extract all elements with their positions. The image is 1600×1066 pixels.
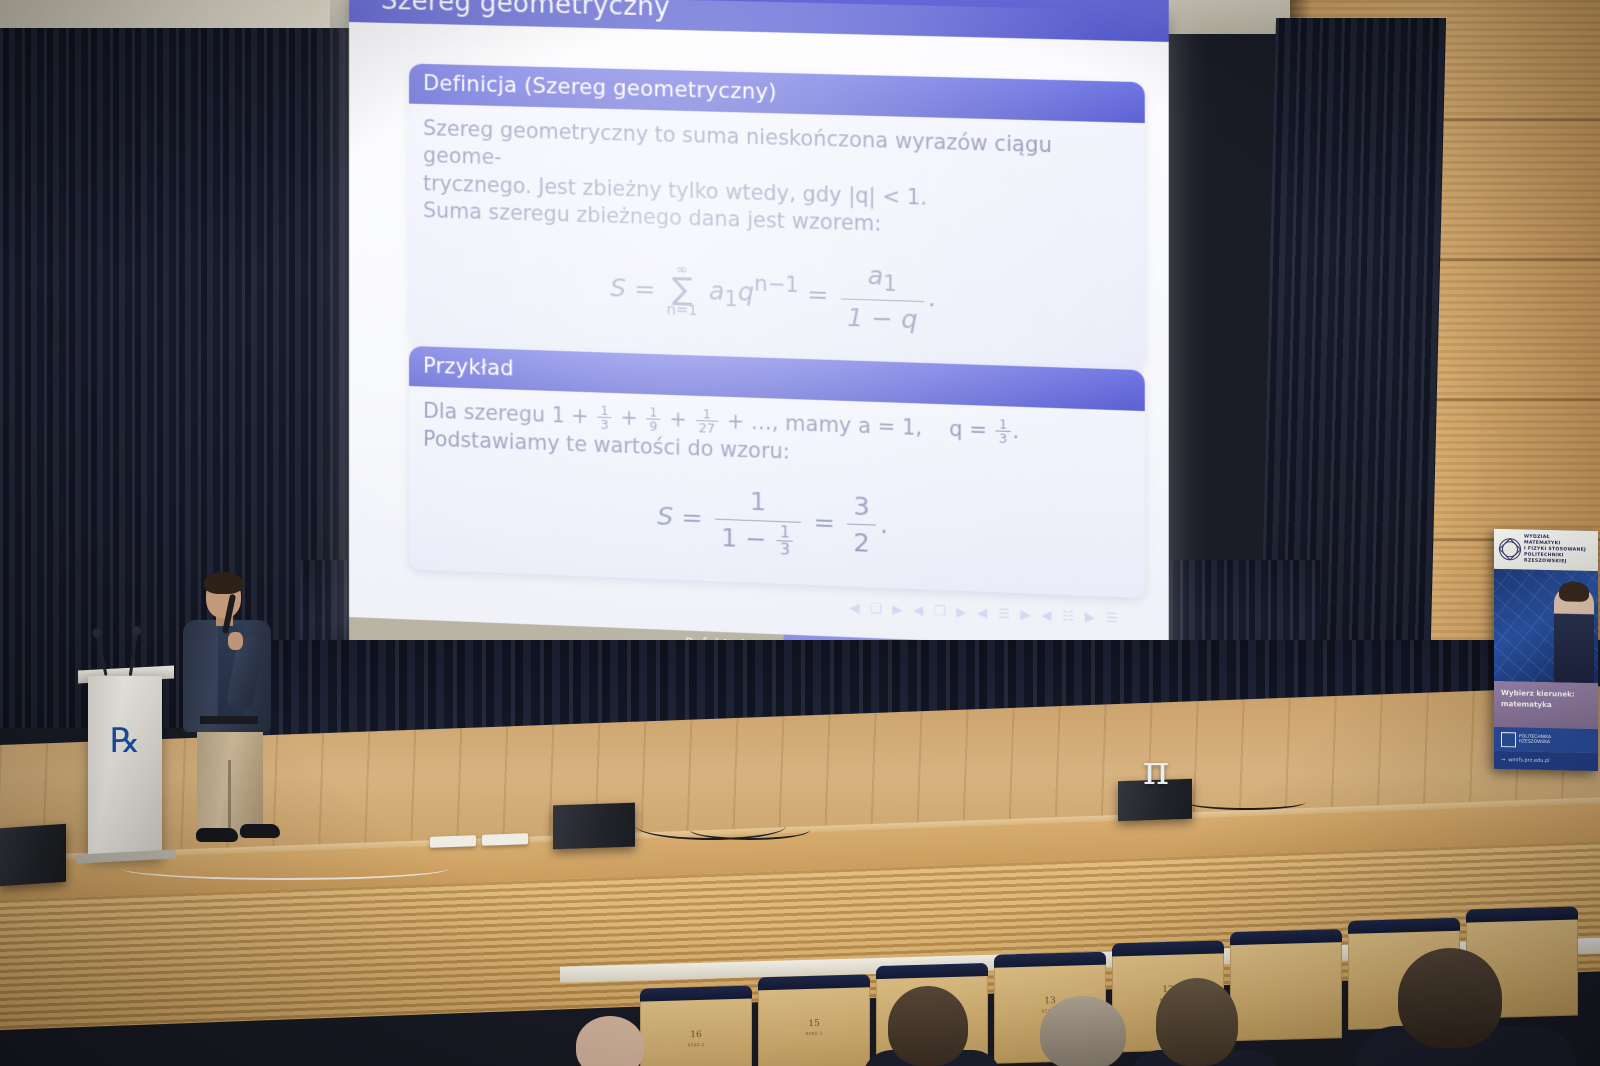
ex-f1-den: 3	[597, 418, 611, 432]
ex-frac-num: 1	[715, 483, 801, 522]
banner-faculty-header: WYDZIAŁ MATEMATYKI I FIZYKI STOSOWANEJ P…	[1494, 529, 1598, 571]
ex-formula-fraction: 1 1 − 1 3	[715, 483, 801, 558]
example-fraction-2: 1 9	[646, 405, 660, 433]
seat-backrest	[994, 952, 1106, 968]
formula-equals-1: =	[634, 273, 655, 303]
banner-university-logo: POLITECHNIKA RZESZOWSKA	[1494, 727, 1598, 753]
seat-row-label: RZĄD 2	[758, 1029, 870, 1037]
ex-f2-den: 9	[646, 420, 660, 434]
banner-student-figure	[1554, 586, 1594, 683]
list-item[interactable]: 15 RZĄD 2	[758, 983, 870, 1066]
power-strip-2	[482, 833, 528, 846]
definition-block: Definicja (Szereg geometryczny) Szereg g…	[409, 64, 1145, 371]
banner-headline: Wybierz kierunek: matematyka	[1494, 681, 1598, 729]
presenter-belt	[200, 716, 258, 724]
presenter-hand	[228, 632, 243, 650]
fraction-numerator: a1	[841, 258, 924, 302]
example-fraction-3: 1 27	[696, 407, 719, 435]
ex-formula-period: .	[880, 509, 888, 539]
example-block-body: Dla szeregu 1 + 1 3 + 1 9 + 1	[409, 386, 1145, 598]
seat-backrest	[1112, 940, 1224, 956]
example-fraction-1: 1 3	[597, 404, 611, 432]
formula-equals-2: =	[807, 279, 828, 309]
formula-fraction: a1 1 − q	[841, 258, 924, 337]
example-period-1: .	[1012, 419, 1019, 444]
formula-term-a-sub: 1	[724, 286, 738, 311]
fraction-num-a: a	[868, 261, 884, 291]
formula-period: .	[928, 282, 936, 312]
ex-formula-equals-2: =	[814, 507, 835, 537]
presenter-shoe-left	[196, 828, 238, 842]
ex-den-fraction: 1 3	[777, 524, 793, 558]
example-fraction-4: 1 3	[996, 417, 1011, 445]
seat-number: 15	[758, 1017, 870, 1030]
stage-cable-2	[690, 820, 810, 840]
definition-formula: S = ∞ ∑ n=1 a1qn−1 = a1 1 − q .	[423, 245, 1128, 343]
pi-sculpture: π	[1134, 755, 1178, 787]
presenter-leg-split	[228, 760, 231, 838]
ex-f3-den: 27	[696, 421, 719, 435]
faculty-line-4: POLITECHNIKI RZESZOWSKIEJ	[1524, 553, 1598, 567]
slide-title: Szereg geometryczny	[349, 0, 1169, 42]
projection-screen: Szereg geometryczny Definicja (Szereg ge…	[349, 0, 1169, 674]
ex-den-frac-den: 3	[777, 541, 793, 558]
arrow-icon: →	[1501, 757, 1505, 763]
ex-res-num: 3	[847, 489, 876, 526]
definition-block-body: Szereg geometryczny to suma nieskończona…	[409, 104, 1145, 371]
seat-backrest	[640, 986, 752, 1002]
audience-head	[888, 986, 968, 1066]
lecture-hall-photo: Szereg geometryczny Definicja (Szereg ge…	[0, 0, 1600, 1066]
beamer-slide: Szereg geometryczny Definicja (Szereg ge…	[349, 0, 1169, 674]
seat-number: 16	[640, 1029, 752, 1042]
ex-den-one: 1 −	[721, 522, 767, 553]
banner-headline-2: matematyka	[1501, 698, 1598, 711]
list-item[interactable]	[1230, 938, 1342, 1041]
seat-backrest	[1348, 918, 1460, 934]
beamer-navigation-icons[interactable]: ◀ ❑ ▶ ◀ ❐ ▶ ◀ ☰ ▶ ◀ ☷ ▶ ☰	[849, 601, 1121, 627]
example-line-1-c: q =	[949, 417, 987, 443]
presenter-hair	[204, 572, 243, 594]
university-name-2: RZESZOWSKA	[1519, 739, 1551, 745]
example-line-1-a: Dla szeregu 1 +	[423, 399, 589, 429]
formula-lhs: S	[610, 273, 626, 303]
audience-head	[1398, 948, 1502, 1048]
fraction-denominator: 1 − q	[841, 299, 924, 337]
example-formula: S = 1 1 − 1 3 =	[423, 473, 1128, 571]
audience-head	[1156, 978, 1238, 1066]
podium-logo: ℞	[106, 712, 144, 770]
banner-faculty-text: WYDZIAŁ MATEMATYKI I FIZYKI STOSOWANEJ P…	[1524, 534, 1598, 566]
seat-backrest	[1230, 929, 1342, 945]
ex-res-den: 2	[847, 525, 876, 561]
formula-term-q-exp: n−1	[754, 272, 799, 298]
fraction-num-sub: 1	[883, 271, 897, 296]
example-block: Przykład Dla szeregu 1 + 1 3 + 1 9 +	[409, 346, 1145, 598]
ex-formula-equals-1: =	[681, 502, 702, 532]
seat-row-label: RZĄD 2	[640, 1041, 752, 1049]
faculty-emblem-icon	[1499, 538, 1521, 560]
example-plus-2: +	[669, 407, 686, 432]
ex-f4-den: 3	[996, 432, 1011, 446]
stage-cable-3	[1186, 794, 1306, 810]
seat-backrest	[876, 963, 988, 979]
stage-monitor-speaker-left	[0, 824, 66, 887]
ex-formula-lhs: S	[657, 501, 673, 531]
university-crest-icon	[1501, 732, 1516, 747]
formula-term-a: a	[709, 276, 725, 306]
audience-head	[576, 1016, 644, 1066]
banner-url: wmifs.prz.edu.pl	[1508, 757, 1549, 764]
formula-term-q: q	[738, 277, 754, 307]
power-strip-1	[430, 835, 476, 848]
seat-backrest	[1466, 906, 1578, 922]
banner-url-row: → wmifs.prz.edu.pl	[1494, 751, 1598, 771]
example-line-1-b: + …, mamy a = 1,	[727, 409, 922, 440]
ex-den-frac-num: 1	[777, 524, 793, 542]
stage-cable-white	[120, 856, 450, 880]
seat-backrest	[758, 974, 870, 990]
ex-result-fraction: 3 2	[847, 489, 876, 561]
rollup-banner: WYDZIAŁ MATEMATYKI I FIZYKI STOSOWANEJ P…	[1494, 529, 1598, 771]
list-item[interactable]: 16 RZĄD 2	[640, 995, 752, 1066]
presenter-shoe-right	[240, 824, 280, 838]
ex-frac-den: 1 − 1 3	[715, 519, 801, 558]
summation-symbol: ∞ ∑ n=1	[667, 263, 698, 320]
banner-photo	[1494, 569, 1598, 683]
stage-monitor-speaker-center	[553, 803, 635, 850]
example-plus-1: +	[620, 405, 637, 430]
sigma-icon: ∑	[667, 278, 698, 304]
audience-head	[1040, 996, 1126, 1066]
sum-lower-limit: n=1	[667, 302, 698, 319]
